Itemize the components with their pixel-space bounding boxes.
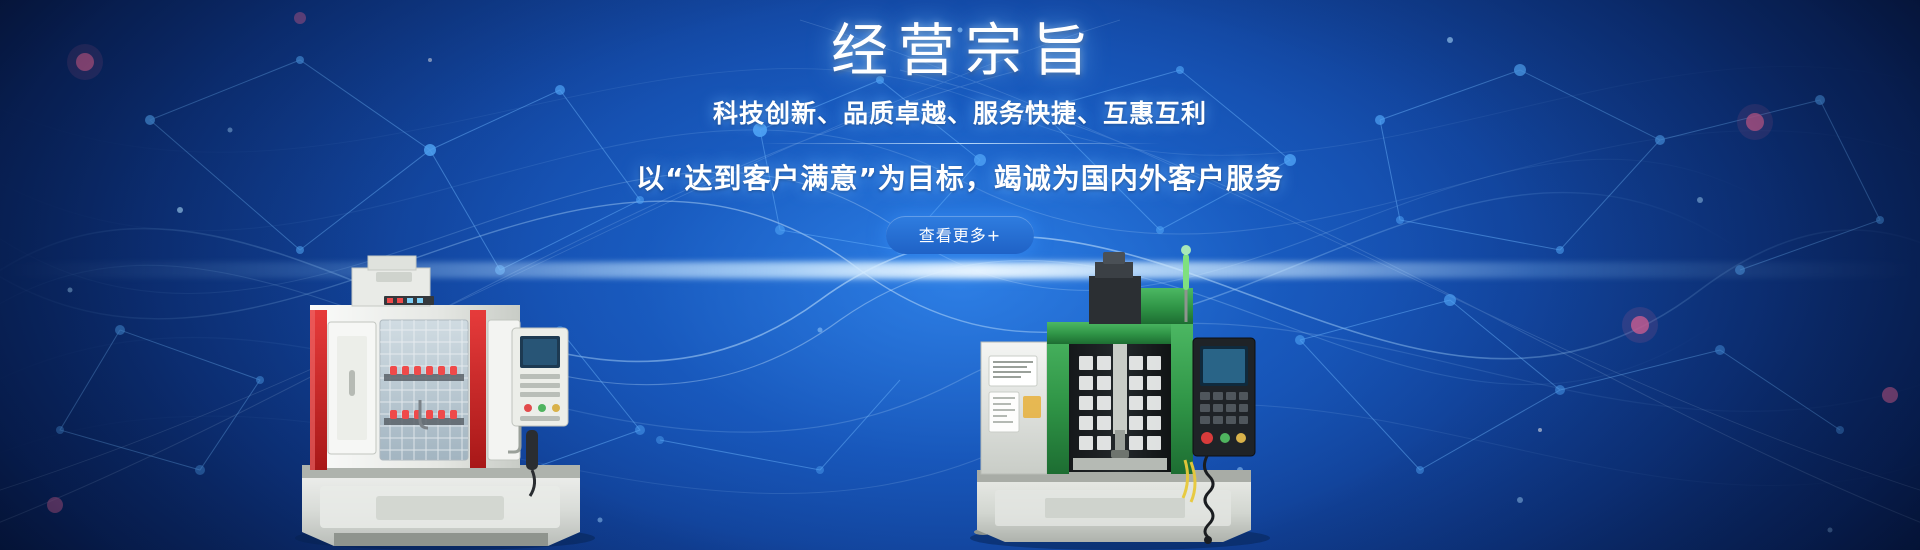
banner-subtitle: 科技创新、品质卓越、服务快捷、互惠互利 (0, 94, 1920, 130)
hero-banner: 经营宗旨 科技创新、品质卓越、服务快捷、互惠互利 以“达到客户满意”为目标，竭诚… (0, 0, 1920, 550)
cnc-machining-center-right (955, 230, 1285, 550)
banner-content: 经营宗旨 科技创新、品质卓越、服务快捷、互惠互利 以“达到客户满意”为目标，竭诚… (0, 22, 1920, 254)
page-title: 经营宗旨 (0, 22, 1920, 82)
banner-tagline: 以“达到客户满意”为目标，竭诚为国内外客户服务 (0, 157, 1920, 197)
divider (760, 143, 1160, 144)
cnc-machining-center-left (280, 250, 610, 550)
view-more-button[interactable]: 查看更多+ (886, 216, 1034, 254)
